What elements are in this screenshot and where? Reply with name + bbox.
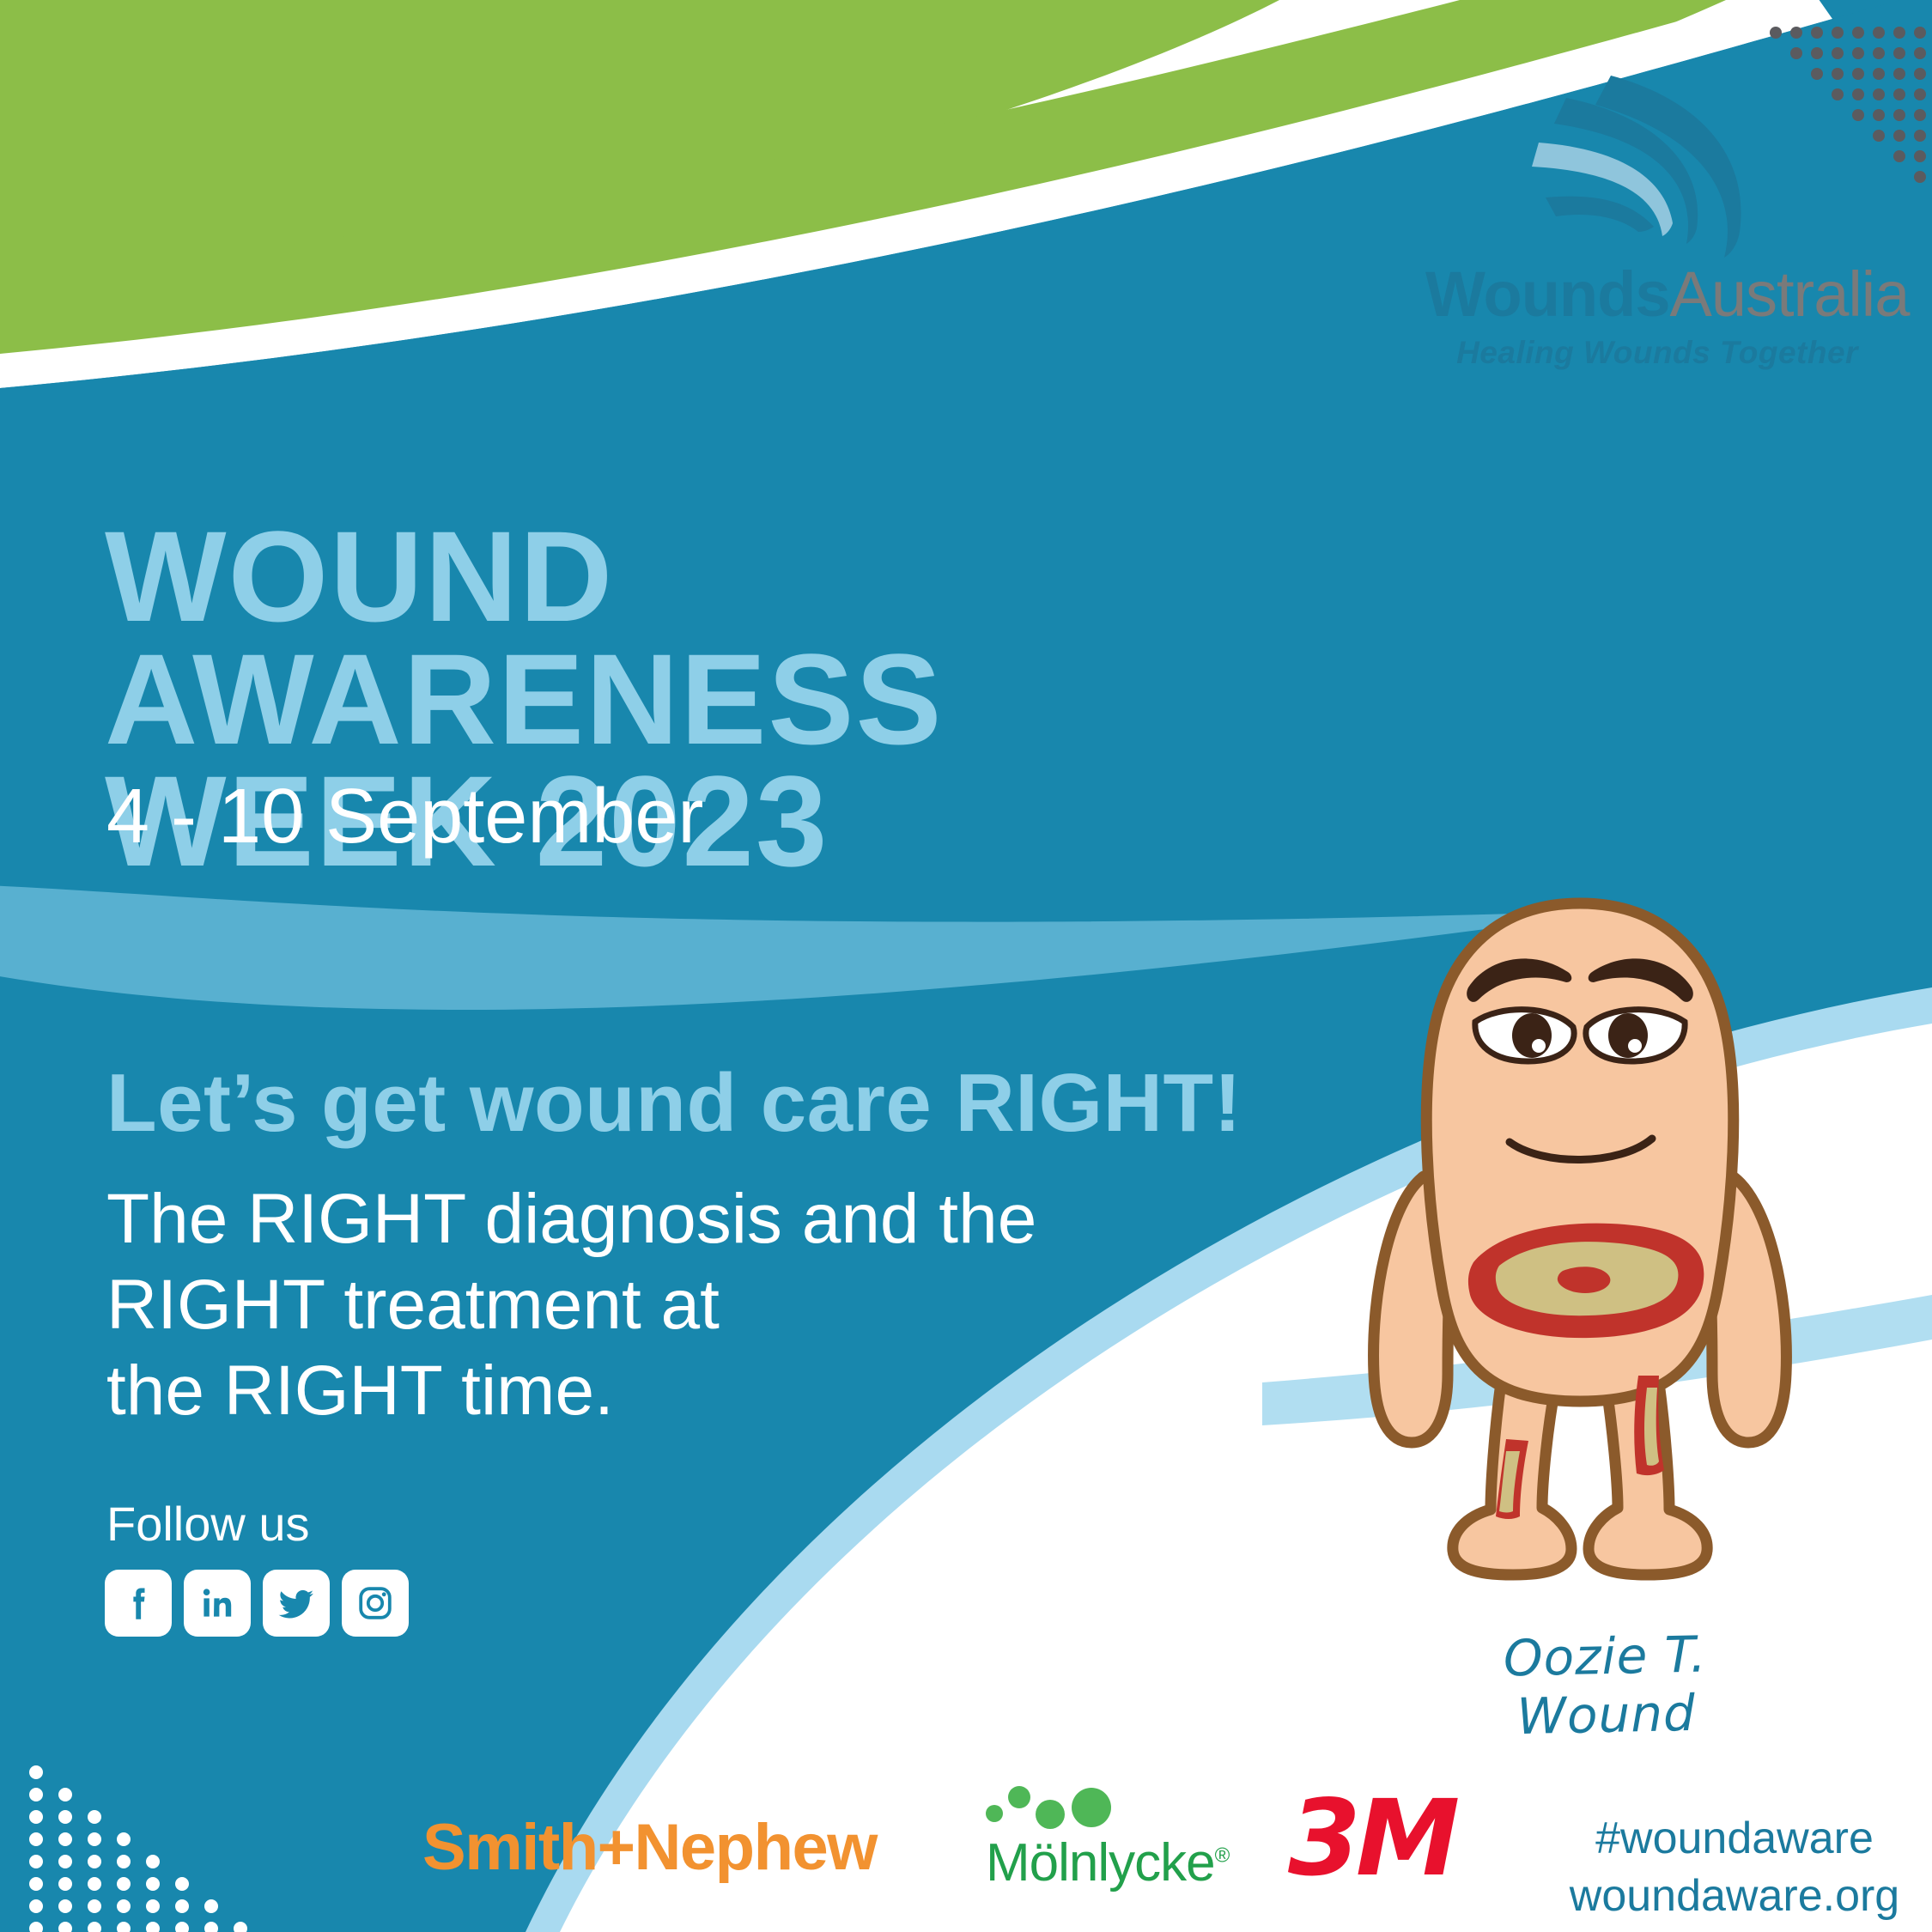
oozie-t-wound-illustration bbox=[1322, 893, 1838, 1606]
follow-us-label: Follow us bbox=[106, 1496, 310, 1552]
mascot-character bbox=[1322, 893, 1838, 1606]
event-dates: 4 - 10 September bbox=[106, 773, 703, 861]
logo-name-light: Australia bbox=[1669, 258, 1909, 330]
logo-wordmark: WoundsAustralia bbox=[1425, 263, 1889, 326]
headline-line-1: WOUND AWARENESS bbox=[105, 504, 944, 771]
social-link-facebook[interactable] bbox=[105, 1570, 172, 1637]
poster-canvas: WoundsAustralia Healing Wounds Together … bbox=[0, 0, 1932, 1932]
campaign-hashtag: #woundaware bbox=[1563, 1810, 1906, 1868]
facebook-icon bbox=[117, 1582, 160, 1625]
mascot-body-wound bbox=[1468, 1224, 1704, 1338]
instagram-icon bbox=[355, 1583, 396, 1624]
logo-name-bold: Wounds bbox=[1425, 258, 1669, 330]
campaign-subcopy: The RIGHT diagnosis and the RIGHT treatm… bbox=[106, 1176, 1223, 1434]
social-link-instagram[interactable] bbox=[342, 1570, 409, 1637]
campaign-slogan: Let’s get wound care RIGHT! bbox=[106, 1056, 1242, 1151]
campaign-tags: #woundaware woundaware.org bbox=[1563, 1810, 1906, 1924]
social-link-linkedin[interactable] bbox=[184, 1570, 251, 1637]
wounds-australia-logo: WoundsAustralia Healing Wounds Together bbox=[1425, 60, 1889, 371]
sponsor-logo-molnlycke: Mölnlycke® bbox=[986, 1783, 1261, 1893]
logo-tagline: Healing Wounds Together bbox=[1425, 335, 1889, 371]
social-link-twitter[interactable] bbox=[263, 1570, 330, 1637]
sponsor-logo-3m: 3M bbox=[1288, 1777, 1455, 1899]
subcopy-line-1: The RIGHT diagnosis and the bbox=[106, 1176, 1223, 1262]
subcopy-line-3: the RIGHT time. bbox=[106, 1348, 1223, 1434]
molnlycke-wordmark: Mölnlycke® bbox=[986, 1832, 1261, 1893]
mascot-name-caption: Oozie T. Wound bbox=[1407, 1623, 1805, 1748]
swoosh-logo-icon bbox=[1528, 60, 1786, 258]
social-links bbox=[105, 1570, 409, 1637]
subcopy-line-2: RIGHT treatment at bbox=[106, 1262, 1223, 1348]
linkedin-icon bbox=[197, 1583, 238, 1624]
sponsor-logo-smith-nephew: Smith+Nephew bbox=[422, 1810, 877, 1885]
twitter-icon bbox=[275, 1582, 318, 1625]
campaign-website[interactable]: woundaware.org bbox=[1563, 1868, 1906, 1925]
molnlycke-dots-icon bbox=[986, 1783, 1261, 1831]
